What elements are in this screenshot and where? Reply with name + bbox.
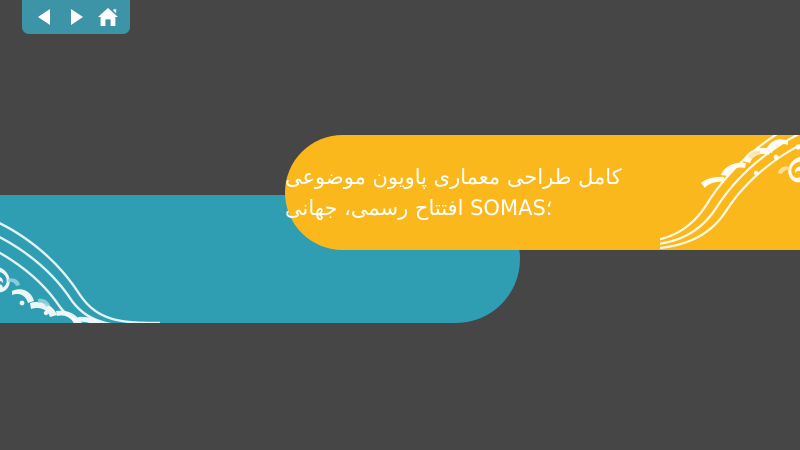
slide-canvas: کامل طراحی معماری پاویون موضوعی ؛SOMAS ا…: [0, 0, 800, 450]
arabesque-corner-ornament-teal: [0, 195, 160, 323]
next-slide-button[interactable]: [63, 4, 89, 30]
home-icon: [97, 7, 119, 28]
arabesque-corner-ornament-yellow: [660, 135, 800, 250]
triangle-left-icon: [35, 7, 53, 27]
slide-navigation-bar: [22, 0, 130, 34]
previous-slide-button[interactable]: [31, 4, 57, 30]
triangle-right-icon: [67, 7, 85, 27]
title-banner: [285, 135, 800, 250]
home-button[interactable]: [95, 4, 121, 30]
